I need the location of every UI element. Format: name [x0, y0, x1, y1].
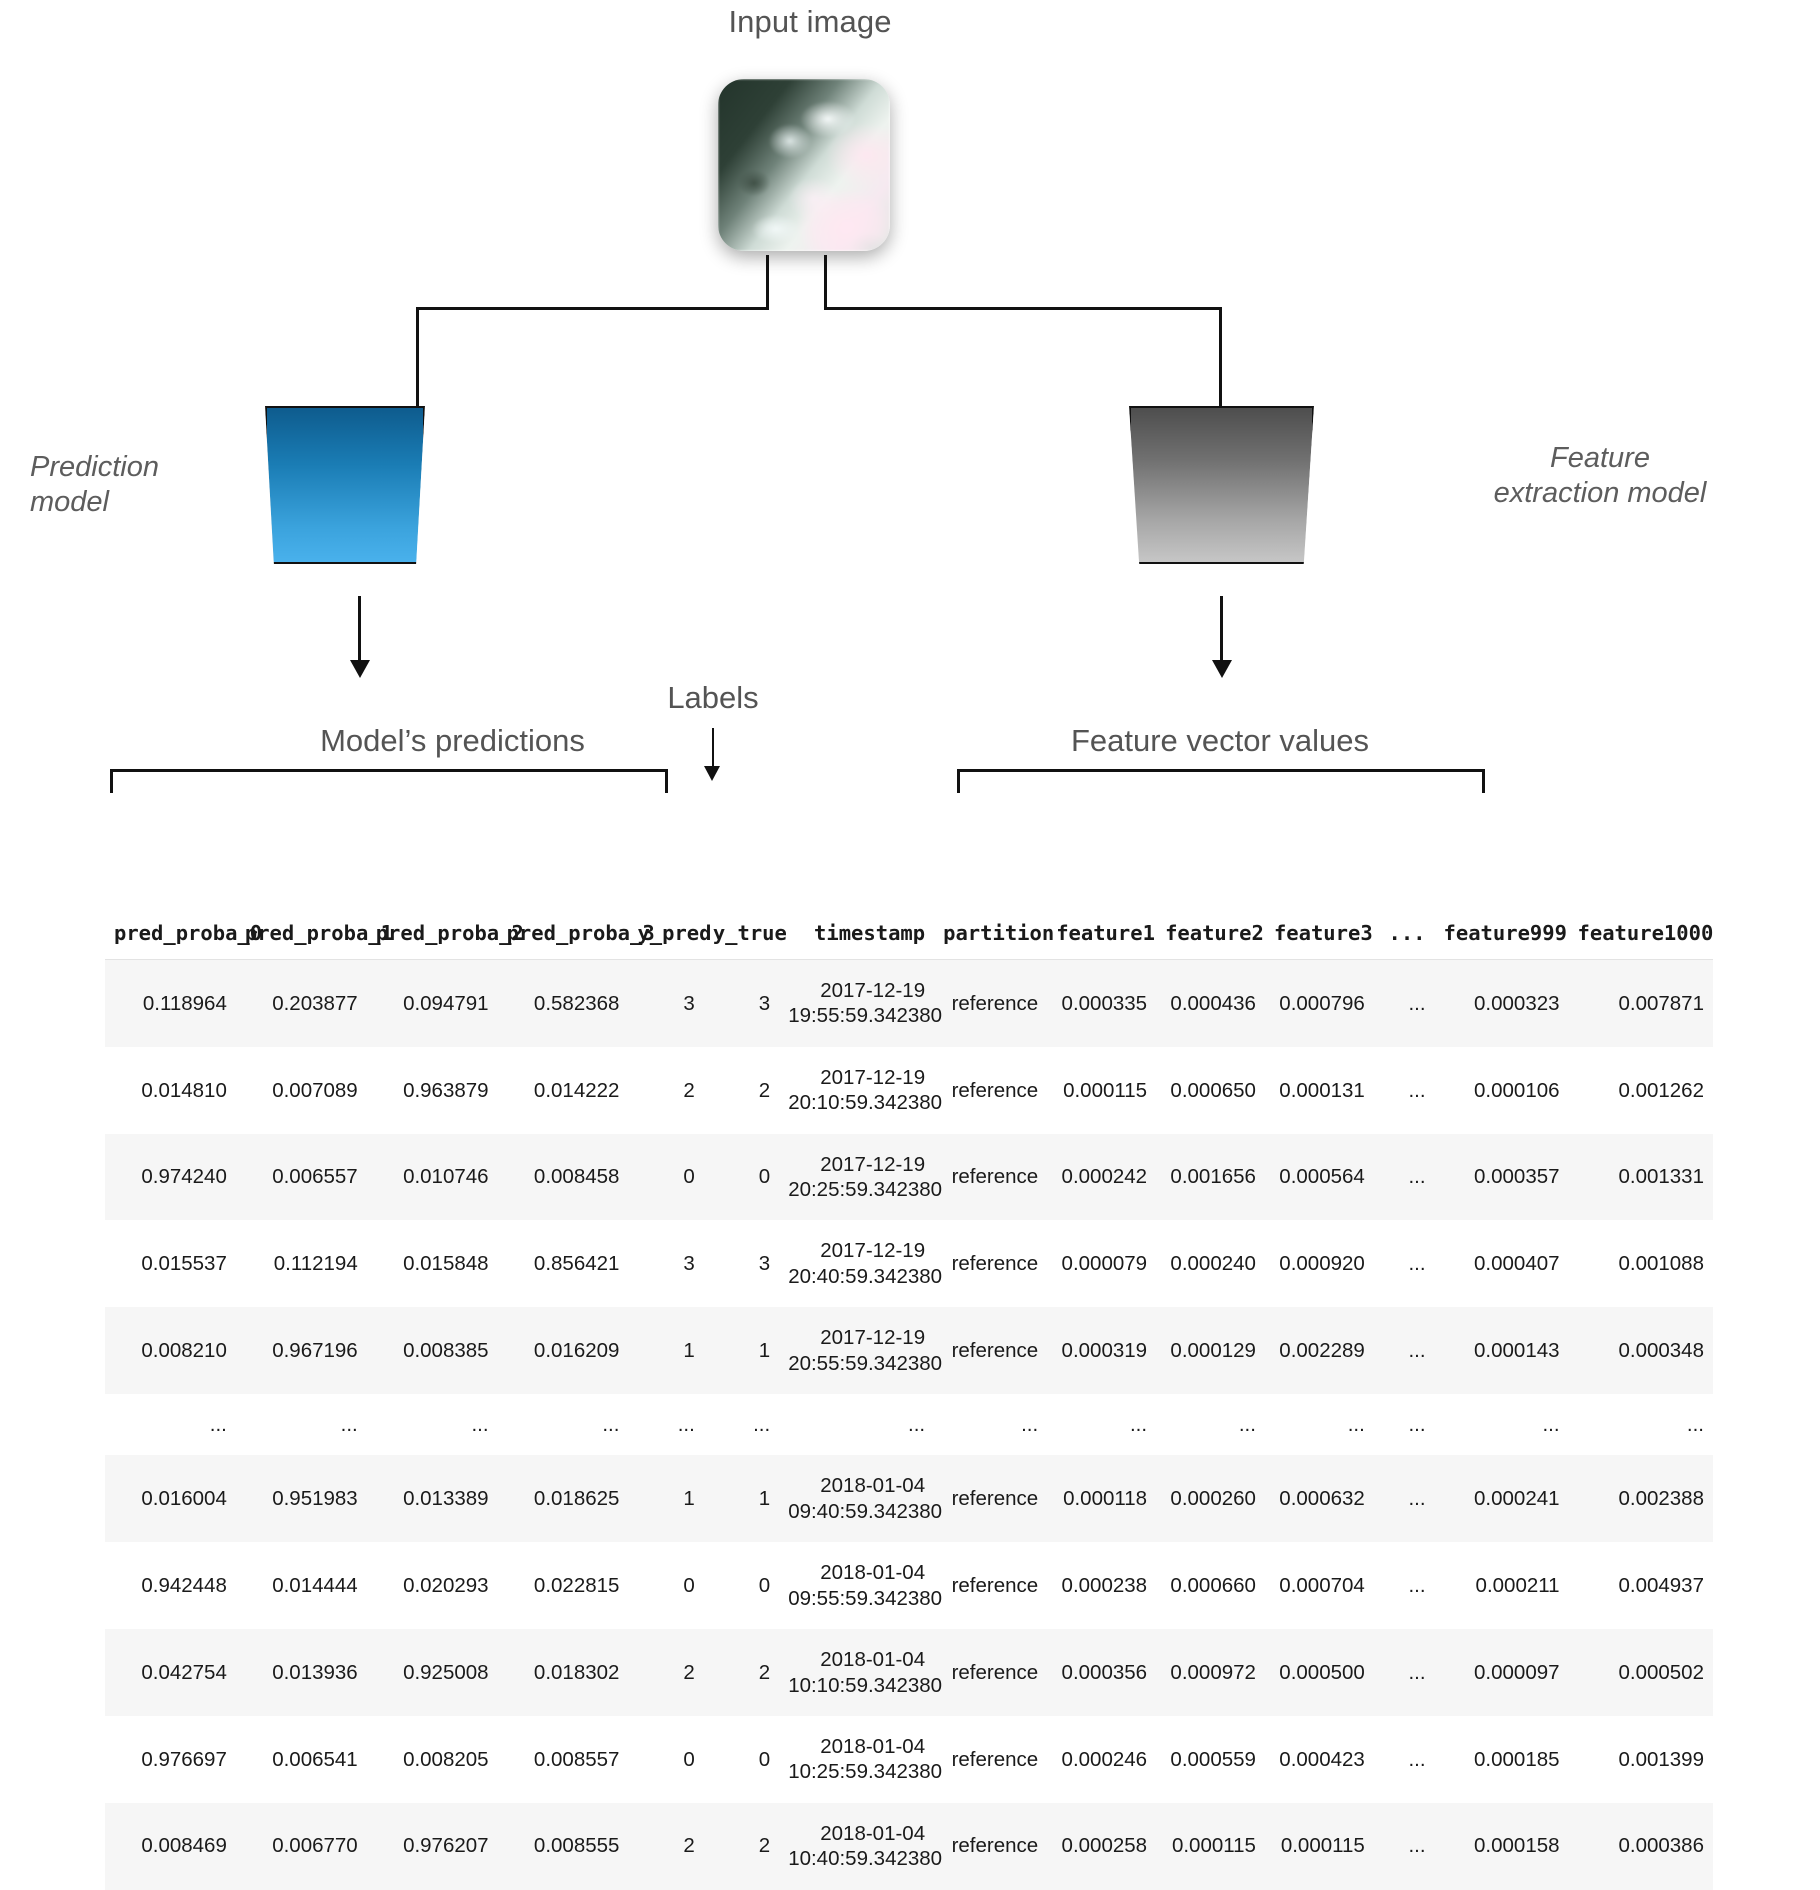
cell-y-pred: 0 — [628, 1134, 703, 1221]
cell-pred-proba-1: 0.013936 — [236, 1629, 367, 1716]
cell-timestamp: 2018-01-0409:40:59.342380 — [779, 1455, 934, 1542]
feature-extraction-model-label: Feature extraction model — [1380, 441, 1820, 512]
cell-timestamp: 2017-12-1920:10:59.342380 — [779, 1047, 934, 1134]
cell-feature1: 0.000356 — [1047, 1629, 1156, 1716]
cell-feature3: 0.000500 — [1265, 1629, 1374, 1716]
arrow-features-shaft — [1220, 596, 1223, 668]
connector-right-down — [1219, 307, 1222, 407]
connector-right-horizontal — [824, 307, 1222, 310]
cell-partition: reference — [934, 1716, 1047, 1803]
cell-pred-proba-0: 0.008469 — [105, 1803, 236, 1890]
cell-partition: reference — [934, 1220, 1047, 1307]
cell-pred-proba-0: ... — [105, 1394, 236, 1455]
labels-group-caption: Labels — [613, 680, 813, 716]
col-timestamp: timestamp — [779, 921, 934, 960]
cell-feature999: 0.000357 — [1435, 1134, 1569, 1221]
table-row: 0.0148100.0070890.9638790.014222222017-1… — [105, 1047, 1713, 1134]
cell-y-pred: 3 — [628, 960, 703, 1047]
col-y-pred: y_pred — [628, 921, 703, 960]
cell-feature2: 0.000650 — [1156, 1047, 1265, 1134]
cell-pred-proba-2: 0.008205 — [367, 1716, 498, 1803]
cell-timestamp: 2017-12-1919:55:59.342380 — [779, 960, 934, 1047]
dataframe-table: pred_proba_0 pred_proba_1 pred_proba_2 p… — [105, 921, 1713, 1890]
cell-feature2: 0.000115 — [1156, 1803, 1265, 1890]
cell-pred-proba-3: 0.008557 — [498, 1716, 629, 1803]
cell-y-true: 0 — [704, 1134, 779, 1221]
cell-feature3: 0.000423 — [1265, 1716, 1374, 1803]
cell-pred-proba-0: 0.008210 — [105, 1307, 236, 1394]
cell-timestamp: 2017-12-1920:40:59.342380 — [779, 1220, 934, 1307]
cell-y-true: ... — [704, 1394, 779, 1455]
cell-timestamp: 2017-12-1920:55:59.342380 — [779, 1307, 934, 1394]
table-header-row: pred_proba_0 pred_proba_1 pred_proba_2 p… — [105, 921, 1713, 960]
cell-feature1000: 0.004937 — [1569, 1542, 1713, 1629]
cell-timestamp: 2018-01-0410:10:59.342380 — [779, 1629, 934, 1716]
input-image-thumbnail — [718, 79, 890, 251]
col-ellipsis: ... — [1374, 921, 1435, 960]
cell-feature3: 0.002289 — [1265, 1307, 1374, 1394]
connector-left-vertical-stub — [766, 255, 769, 310]
features-group-caption: Feature vector values — [960, 723, 1480, 759]
table-row: 0.0427540.0139360.9250080.018302222018-0… — [105, 1629, 1713, 1716]
cell-ellipsis: ... — [1374, 1629, 1435, 1716]
cell-pred-proba-1: 0.006770 — [236, 1803, 367, 1890]
cell-ellipsis: ... — [1374, 1803, 1435, 1890]
table-row: 0.9742400.0065570.0107460.008458002017-1… — [105, 1134, 1713, 1221]
cell-y-pred: 2 — [628, 1629, 703, 1716]
cell-pred-proba-2: ... — [367, 1394, 498, 1455]
cell-feature999: ... — [1435, 1394, 1569, 1455]
cell-timestamp: 2018-01-0410:25:59.342380 — [779, 1716, 934, 1803]
cell-ellipsis: ... — [1374, 960, 1435, 1047]
pipeline-diagram: Input image Prediction model Feature ext… — [0, 0, 1820, 790]
cell-pred-proba-1: 0.112194 — [236, 1220, 367, 1307]
cell-feature999: 0.000143 — [1435, 1307, 1569, 1394]
table-row: 0.0155370.1121940.0158480.856421332017-1… — [105, 1220, 1713, 1307]
cell-feature1000: 0.000502 — [1569, 1629, 1713, 1716]
cell-feature2: ... — [1156, 1394, 1265, 1455]
cell-pred-proba-3: 0.018302 — [498, 1629, 629, 1716]
cell-feature999: 0.000241 — [1435, 1455, 1569, 1542]
cell-feature1000: ... — [1569, 1394, 1713, 1455]
cell-feature2: 0.000972 — [1156, 1629, 1265, 1716]
cell-feature1: ... — [1047, 1394, 1156, 1455]
cell-y-true: 0 — [704, 1716, 779, 1803]
table-row: 0.0084690.0067700.9762070.008555222018-0… — [105, 1803, 1713, 1890]
cell-feature3: 0.000131 — [1265, 1047, 1374, 1134]
cell-timestamp: 2017-12-1920:25:59.342380 — [779, 1134, 934, 1221]
cell-feature3: 0.000920 — [1265, 1220, 1374, 1307]
arrow-labels-head — [704, 766, 720, 781]
cell-y-true: 3 — [704, 1220, 779, 1307]
connector-left-horizontal — [416, 307, 769, 310]
table-row: 0.9424480.0144440.0202930.022815002018-0… — [105, 1542, 1713, 1629]
prediction-model-shape — [265, 406, 425, 564]
cell-pred-proba-1: 0.007089 — [236, 1047, 367, 1134]
cell-feature1: 0.000258 — [1047, 1803, 1156, 1890]
cell-partition: reference — [934, 1542, 1047, 1629]
cell-pred-proba-0: 0.974240 — [105, 1134, 236, 1221]
cell-y-true: 2 — [704, 1803, 779, 1890]
col-pred-proba-3: pred_proba_3 — [498, 921, 629, 960]
cell-partition: ... — [934, 1394, 1047, 1455]
arrow-features-head — [1212, 660, 1232, 678]
cell-feature1: 0.000246 — [1047, 1716, 1156, 1803]
cell-y-true: 1 — [704, 1307, 779, 1394]
cell-y-pred: ... — [628, 1394, 703, 1455]
cell-feature999: 0.000158 — [1435, 1803, 1569, 1890]
cell-pred-proba-1: 0.203877 — [236, 960, 367, 1047]
cell-pred-proba-1: 0.951983 — [236, 1455, 367, 1542]
arrow-predictions-head — [350, 660, 370, 678]
cell-y-true: 2 — [704, 1047, 779, 1134]
cell-pred-proba-2: 0.976207 — [367, 1803, 498, 1890]
table-row: 0.1189640.2038770.0947910.582368332017-1… — [105, 960, 1713, 1047]
connector-left-down — [416, 307, 419, 407]
cell-partition: reference — [934, 1134, 1047, 1221]
cell-ellipsis: ... — [1374, 1134, 1435, 1221]
cell-pred-proba-1: ... — [236, 1394, 367, 1455]
cell-pred-proba-0: 0.042754 — [105, 1629, 236, 1716]
cell-feature2: 0.000240 — [1156, 1220, 1265, 1307]
cell-feature1000: 0.001262 — [1569, 1047, 1713, 1134]
cell-pred-proba-2: 0.008385 — [367, 1307, 498, 1394]
cell-ellipsis: ... — [1374, 1542, 1435, 1629]
cell-y-pred: 1 — [628, 1455, 703, 1542]
table-row: 0.9766970.0065410.0082050.008557002018-0… — [105, 1716, 1713, 1803]
arrow-predictions-shaft — [358, 596, 361, 668]
col-feature999: feature999 — [1435, 921, 1569, 960]
cell-ellipsis: ... — [1374, 1394, 1435, 1455]
cell-partition: reference — [934, 960, 1047, 1047]
cell-feature3: 0.000115 — [1265, 1803, 1374, 1890]
cell-feature999: 0.000097 — [1435, 1629, 1569, 1716]
cell-feature1: 0.000335 — [1047, 960, 1156, 1047]
col-pred-proba-0: pred_proba_0 — [105, 921, 236, 960]
cell-pred-proba-1: 0.014444 — [236, 1542, 367, 1629]
cell-feature1000: 0.000386 — [1569, 1803, 1713, 1890]
cell-pred-proba-2: 0.020293 — [367, 1542, 498, 1629]
cell-partition: reference — [934, 1629, 1047, 1716]
cell-y-pred: 0 — [628, 1542, 703, 1629]
cell-feature999: 0.000185 — [1435, 1716, 1569, 1803]
cell-feature1000: 0.000348 — [1569, 1307, 1713, 1394]
cell-pred-proba-0: 0.014810 — [105, 1047, 236, 1134]
cell-partition: reference — [934, 1455, 1047, 1542]
cell-pred-proba-0: 0.942448 — [105, 1542, 236, 1629]
cell-pred-proba-2: 0.925008 — [367, 1629, 498, 1716]
cell-y-true: 0 — [704, 1542, 779, 1629]
col-feature3: feature3 — [1265, 921, 1374, 960]
cell-feature3: 0.000796 — [1265, 960, 1374, 1047]
cell-y-true: 1 — [704, 1455, 779, 1542]
col-pred-proba-2: pred_proba_2 — [367, 921, 498, 960]
feature-extraction-model-shape — [1129, 406, 1314, 564]
cell-feature3: 0.000632 — [1265, 1455, 1374, 1542]
cell-timestamp: 2018-01-0410:40:59.342380 — [779, 1803, 934, 1890]
cell-feature1: 0.000238 — [1047, 1542, 1156, 1629]
cell-ellipsis: ... — [1374, 1047, 1435, 1134]
cell-feature1000: 0.001088 — [1569, 1220, 1713, 1307]
col-feature1: feature1 — [1047, 921, 1156, 960]
feature-model-label-line1: Feature — [1550, 442, 1650, 474]
cell-ellipsis: ... — [1374, 1716, 1435, 1803]
cell-pred-proba-3: 0.018625 — [498, 1455, 629, 1542]
cell-feature1000: 0.001399 — [1569, 1716, 1713, 1803]
prediction-model-label: Prediction model — [30, 450, 245, 521]
cell-feature3: 0.000564 — [1265, 1134, 1374, 1221]
table-row: ........................................… — [105, 1394, 1713, 1455]
cell-feature1: 0.000079 — [1047, 1220, 1156, 1307]
cell-y-pred: 2 — [628, 1803, 703, 1890]
cell-pred-proba-3: 0.008458 — [498, 1134, 629, 1221]
cell-feature1: 0.000118 — [1047, 1455, 1156, 1542]
cell-pred-proba-3: 0.008555 — [498, 1803, 629, 1890]
cell-feature1: 0.000319 — [1047, 1307, 1156, 1394]
cell-pred-proba-1: 0.006541 — [236, 1716, 367, 1803]
cell-y-pred: 1 — [628, 1307, 703, 1394]
cell-feature2: 0.000559 — [1156, 1716, 1265, 1803]
cell-ellipsis: ... — [1374, 1307, 1435, 1394]
cell-pred-proba-3: 0.016209 — [498, 1307, 629, 1394]
cell-pred-proba-0: 0.015537 — [105, 1220, 236, 1307]
cell-pred-proba-1: 0.967196 — [236, 1307, 367, 1394]
cell-partition: reference — [934, 1047, 1047, 1134]
table-body: 0.1189640.2038770.0947910.582368332017-1… — [105, 960, 1713, 1890]
cell-ellipsis: ... — [1374, 1455, 1435, 1542]
cell-y-true: 3 — [704, 960, 779, 1047]
cell-pred-proba-2: 0.963879 — [367, 1047, 498, 1134]
cell-feature1000: 0.001331 — [1569, 1134, 1713, 1221]
cell-feature999: 0.000106 — [1435, 1047, 1569, 1134]
predictions-group-bracket — [110, 769, 668, 795]
cell-y-pred: 2 — [628, 1047, 703, 1134]
cell-pred-proba-3: 0.014222 — [498, 1047, 629, 1134]
cell-feature1000: 0.007871 — [1569, 960, 1713, 1047]
cloud-satellite-image — [718, 79, 890, 251]
col-y-true: y_true — [704, 921, 779, 960]
cell-y-pred: 3 — [628, 1220, 703, 1307]
table-row: 0.0160040.9519830.0133890.018625112018-0… — [105, 1455, 1713, 1542]
cell-feature2: 0.001656 — [1156, 1134, 1265, 1221]
cell-feature2: 0.000129 — [1156, 1307, 1265, 1394]
cell-feature2: 0.000260 — [1156, 1455, 1265, 1542]
cell-partition: reference — [934, 1307, 1047, 1394]
cell-pred-proba-3: 0.582368 — [498, 960, 629, 1047]
cell-y-true: 2 — [704, 1629, 779, 1716]
cell-pred-proba-2: 0.010746 — [367, 1134, 498, 1221]
cell-feature999: 0.000211 — [1435, 1542, 1569, 1629]
cell-feature1000: 0.002388 — [1569, 1455, 1713, 1542]
cell-pred-proba-0: 0.118964 — [105, 960, 236, 1047]
cell-y-pred: 0 — [628, 1716, 703, 1803]
cell-partition: reference — [934, 1803, 1047, 1890]
cell-pred-proba-3: 0.022815 — [498, 1542, 629, 1629]
cell-pred-proba-2: 0.013389 — [367, 1455, 498, 1542]
cell-feature1: 0.000115 — [1047, 1047, 1156, 1134]
cell-pred-proba-2: 0.094791 — [367, 960, 498, 1047]
cell-feature3: 0.000704 — [1265, 1542, 1374, 1629]
features-group-bracket — [957, 769, 1485, 795]
col-partition: partition — [934, 921, 1047, 960]
cell-pred-proba-3: 0.856421 — [498, 1220, 629, 1307]
cell-ellipsis: ... — [1374, 1220, 1435, 1307]
cell-feature2: 0.000436 — [1156, 960, 1265, 1047]
cell-timestamp: 2018-01-0409:55:59.342380 — [779, 1542, 934, 1629]
input-image-title: Input image — [610, 4, 1010, 40]
cell-pred-proba-3: ... — [498, 1394, 629, 1455]
cell-feature999: 0.000323 — [1435, 960, 1569, 1047]
dataframe-table-container: pred_proba_0 pred_proba_1 pred_proba_2 p… — [105, 921, 1713, 1890]
cell-feature2: 0.000660 — [1156, 1542, 1265, 1629]
cell-pred-proba-1: 0.006557 — [236, 1134, 367, 1221]
col-feature2: feature2 — [1156, 921, 1265, 960]
predictions-group-caption: Model’s predictions — [125, 723, 780, 759]
cell-feature1: 0.000242 — [1047, 1134, 1156, 1221]
cell-feature3: ... — [1265, 1394, 1374, 1455]
connector-right-vertical-stub — [824, 255, 827, 310]
cell-pred-proba-0: 0.976697 — [105, 1716, 236, 1803]
col-feature1000: feature1000 — [1569, 921, 1713, 960]
col-pred-proba-1: pred_proba_1 — [236, 921, 367, 960]
feature-model-label-line2: extraction model — [1494, 477, 1707, 509]
table-row: 0.0082100.9671960.0083850.016209112017-1… — [105, 1307, 1713, 1394]
cell-timestamp: ... — [779, 1394, 934, 1455]
cell-pred-proba-2: 0.015848 — [367, 1220, 498, 1307]
cell-feature999: 0.000407 — [1435, 1220, 1569, 1307]
cell-pred-proba-0: 0.016004 — [105, 1455, 236, 1542]
